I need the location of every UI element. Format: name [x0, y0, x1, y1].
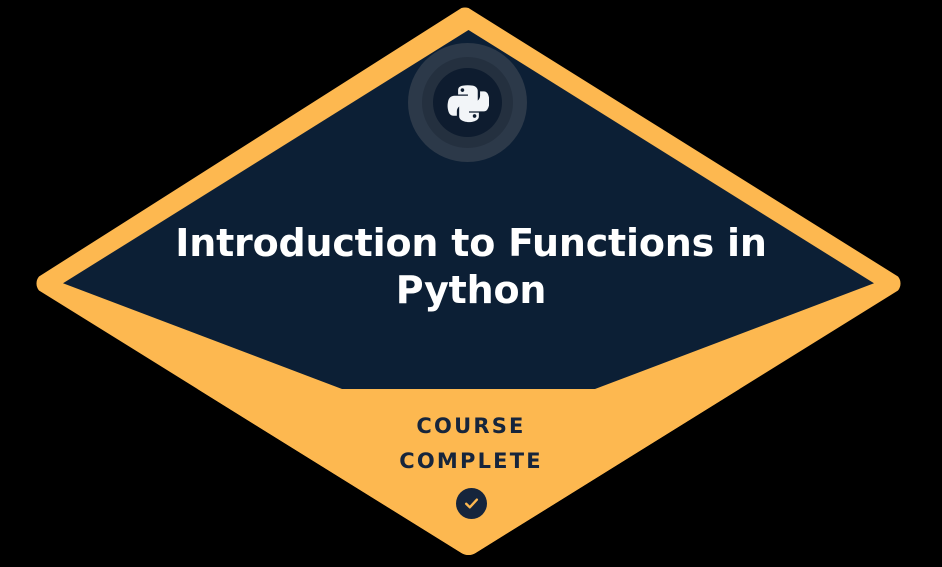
course-title: Introduction to Functions in Python: [131, 220, 811, 314]
badge-title-block: Introduction to Functions in Python: [131, 220, 811, 314]
badge-status-block: COURSE COMPLETE: [271, 409, 671, 519]
status-line-complete: COMPLETE: [271, 444, 671, 479]
status-line-course: COURSE: [271, 409, 671, 444]
emblem-core: [433, 68, 502, 137]
python-logo-icon: [447, 82, 489, 124]
completion-check-badge: [456, 488, 487, 519]
check-mark-icon: [463, 495, 480, 512]
status-check-wrap: [271, 488, 671, 519]
course-completion-badge: Introduction to Functions in Python COUR…: [0, 0, 942, 567]
python-emblem: [408, 43, 527, 162]
